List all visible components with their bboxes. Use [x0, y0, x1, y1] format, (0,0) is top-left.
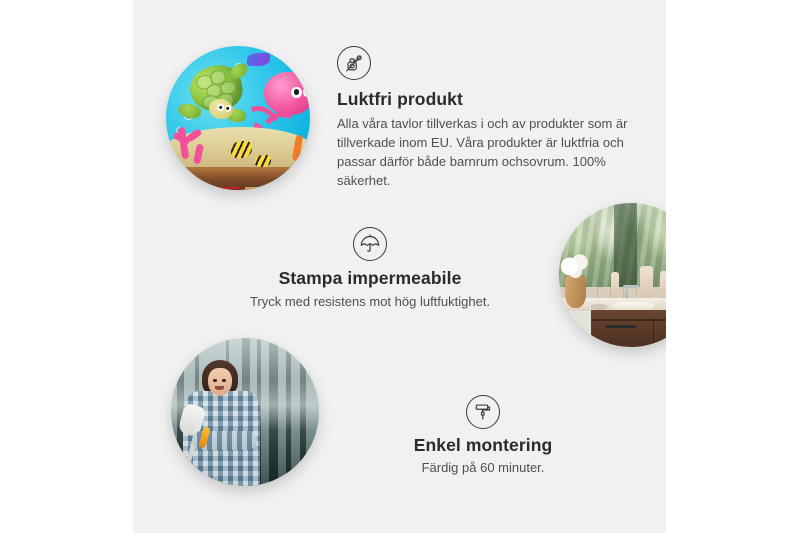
feature-2-text: Stampa impermeabile Tryck med resistens … [205, 203, 535, 312]
feature-1-body: Alla våra tavlor tillverkas i och av pro… [337, 115, 637, 190]
feature-enkel-montering: Enkel montering Färdig på 60 minuter. [171, 338, 641, 486]
feature-1-text: Luktfri produkt Alla våra tavlor tillver… [337, 46, 637, 190]
underwater-cartoon-photo [166, 46, 310, 190]
feature-stampa-impermeabile: Stampa impermeabile Tryck med resistens … [205, 203, 666, 347]
feature-3-text: Enkel montering Färdig på 60 minuter. [333, 338, 633, 478]
feature-2-title: Stampa impermeabile [205, 268, 535, 289]
feature-2-body: Tryck med resistens mot hög luftfuktighe… [205, 293, 535, 312]
feature-1-title: Luktfri produkt [337, 89, 637, 110]
bathroom-tropical-wallpaper-photo [559, 203, 666, 347]
umbrella-icon [353, 227, 387, 261]
feature-3-title: Enkel montering [333, 435, 633, 456]
feature-luktfri-produkt: Luktfri produkt Alla våra tavlor tillver… [166, 46, 666, 190]
no-perfume-icon [337, 46, 371, 80]
product-feature-panel: Luktfri produkt Alla våra tavlor tillver… [133, 0, 666, 533]
paint-roller-icon [466, 395, 500, 429]
feature-3-body: Färdig på 60 minuter. [333, 459, 633, 478]
page-canvas: Luktfri produkt Alla våra tavlor tillver… [0, 0, 800, 533]
woman-paint-roller-forest-photo [171, 338, 319, 486]
